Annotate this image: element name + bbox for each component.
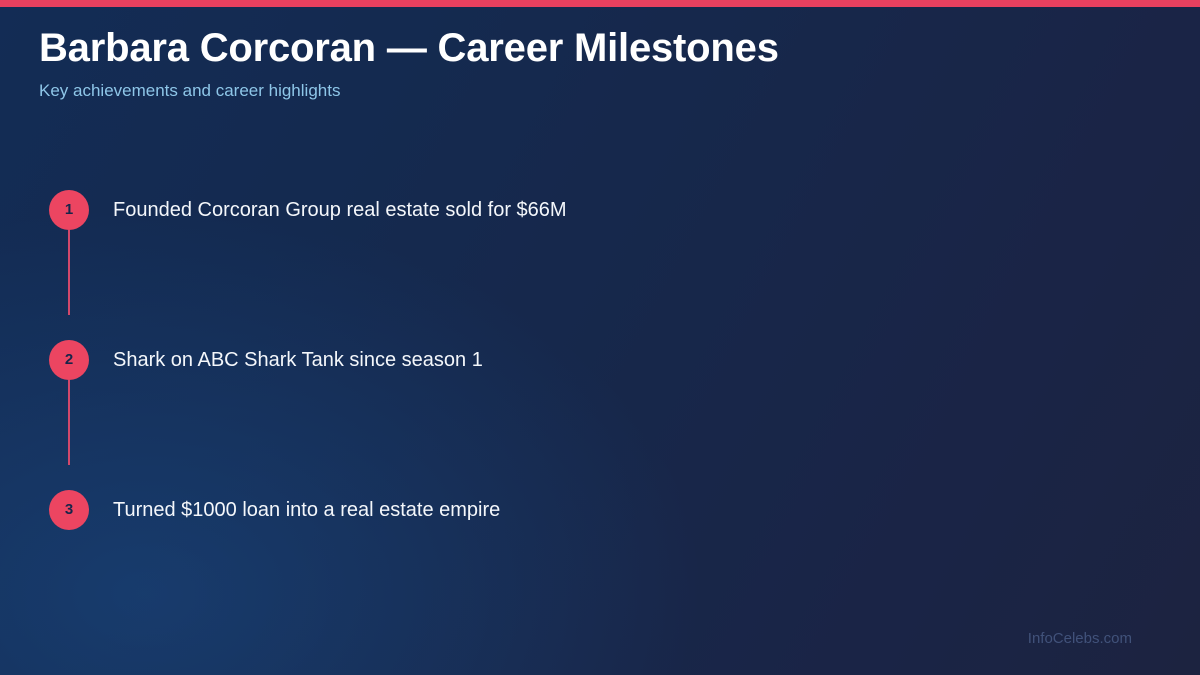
list-item: 3 Turned $1000 loan into a real estate e…: [49, 490, 1149, 550]
list-item: 1 Founded Corcoran Group real estate sol…: [49, 190, 1149, 340]
milestone-number-badge: 3: [49, 490, 89, 530]
slide-canvas: Barbara Corcoran — Career Milestones Key…: [0, 0, 1200, 675]
milestone-text: Turned $1000 loan into a real estate emp…: [113, 490, 500, 530]
page-subtitle: Key achievements and career highlights: [39, 74, 1139, 102]
slide-header: Barbara Corcoran — Career Milestones Key…: [39, 22, 1139, 102]
milestone-text: Founded Corcoran Group real estate sold …: [113, 190, 567, 230]
timeline-connector-line: [68, 380, 70, 465]
page-title: Barbara Corcoran — Career Milestones: [39, 22, 1139, 74]
timeline-connector-line: [68, 230, 70, 315]
milestone-text: Shark on ABC Shark Tank since season 1: [113, 340, 483, 380]
top-accent-bar: [0, 0, 1200, 7]
list-item: 2 Shark on ABC Shark Tank since season 1: [49, 340, 1149, 490]
milestone-number-badge: 1: [49, 190, 89, 230]
milestone-list: 1 Founded Corcoran Group real estate sol…: [49, 190, 1149, 550]
milestone-number-badge: 2: [49, 340, 89, 380]
watermark: InfoCelebs.com: [1028, 630, 1132, 648]
